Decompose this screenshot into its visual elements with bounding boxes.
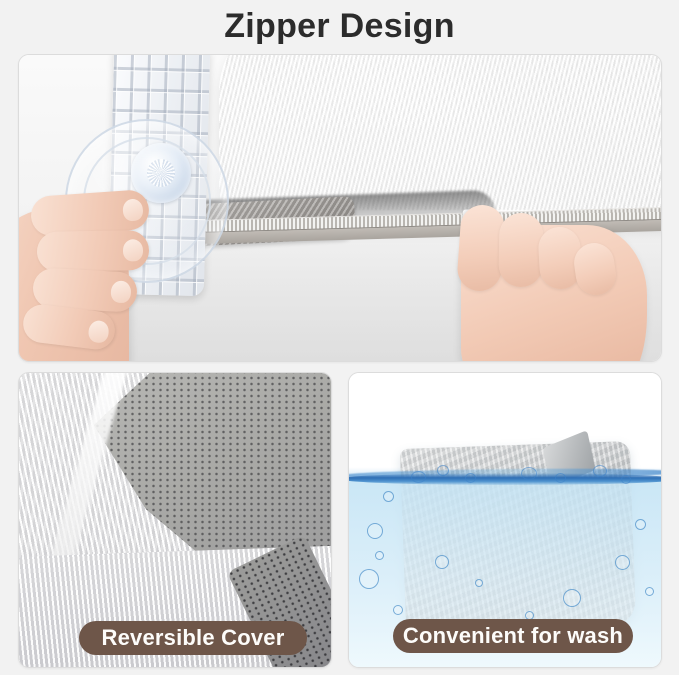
surface-bubble-icon — [521, 467, 537, 480]
fingernail — [110, 280, 131, 303]
surface-bubble-icon — [465, 473, 476, 483]
surface-bubble-icon — [621, 475, 631, 484]
caption-badge-reversible-cover: Reversible Cover — [79, 621, 307, 655]
zipper-cover-scene — [19, 55, 661, 361]
washable-panel: Convenient for wash — [348, 372, 662, 668]
fingernail — [87, 320, 110, 344]
bubble-icon — [367, 523, 383, 539]
page-header: Zipper Design — [0, 0, 679, 52]
bubble-icon — [563, 589, 581, 607]
bubble-icon — [393, 605, 403, 615]
water-surface-line — [349, 473, 661, 485]
right-hand — [431, 203, 661, 361]
bubble-icon — [645, 587, 654, 596]
bubble-icon — [359, 569, 379, 589]
bubble-icon — [383, 491, 394, 502]
fingernail — [122, 198, 143, 221]
left-hand-finger — [37, 230, 150, 272]
bubble-icon — [635, 519, 646, 530]
fingernail — [123, 239, 143, 261]
left-hand — [19, 175, 189, 361]
reversible-cover-panel: Reversible Cover — [18, 372, 332, 668]
bubble-icon — [435, 555, 449, 569]
bubble-icon — [475, 579, 483, 587]
zipper-cover-panel: Convenient to change the cover — [18, 54, 662, 362]
right-hand-finger — [498, 213, 543, 288]
page-title: Zipper Design — [224, 7, 455, 46]
caption-badge-convenient-wash: Convenient for wash — [393, 619, 633, 653]
surface-bubble-icon — [411, 471, 426, 483]
bubble-icon — [615, 555, 630, 570]
bubble-icon — [375, 551, 384, 560]
surface-bubble-icon — [437, 465, 449, 476]
surface-bubble-icon — [555, 473, 566, 483]
surface-bubble-icon — [593, 465, 607, 477]
